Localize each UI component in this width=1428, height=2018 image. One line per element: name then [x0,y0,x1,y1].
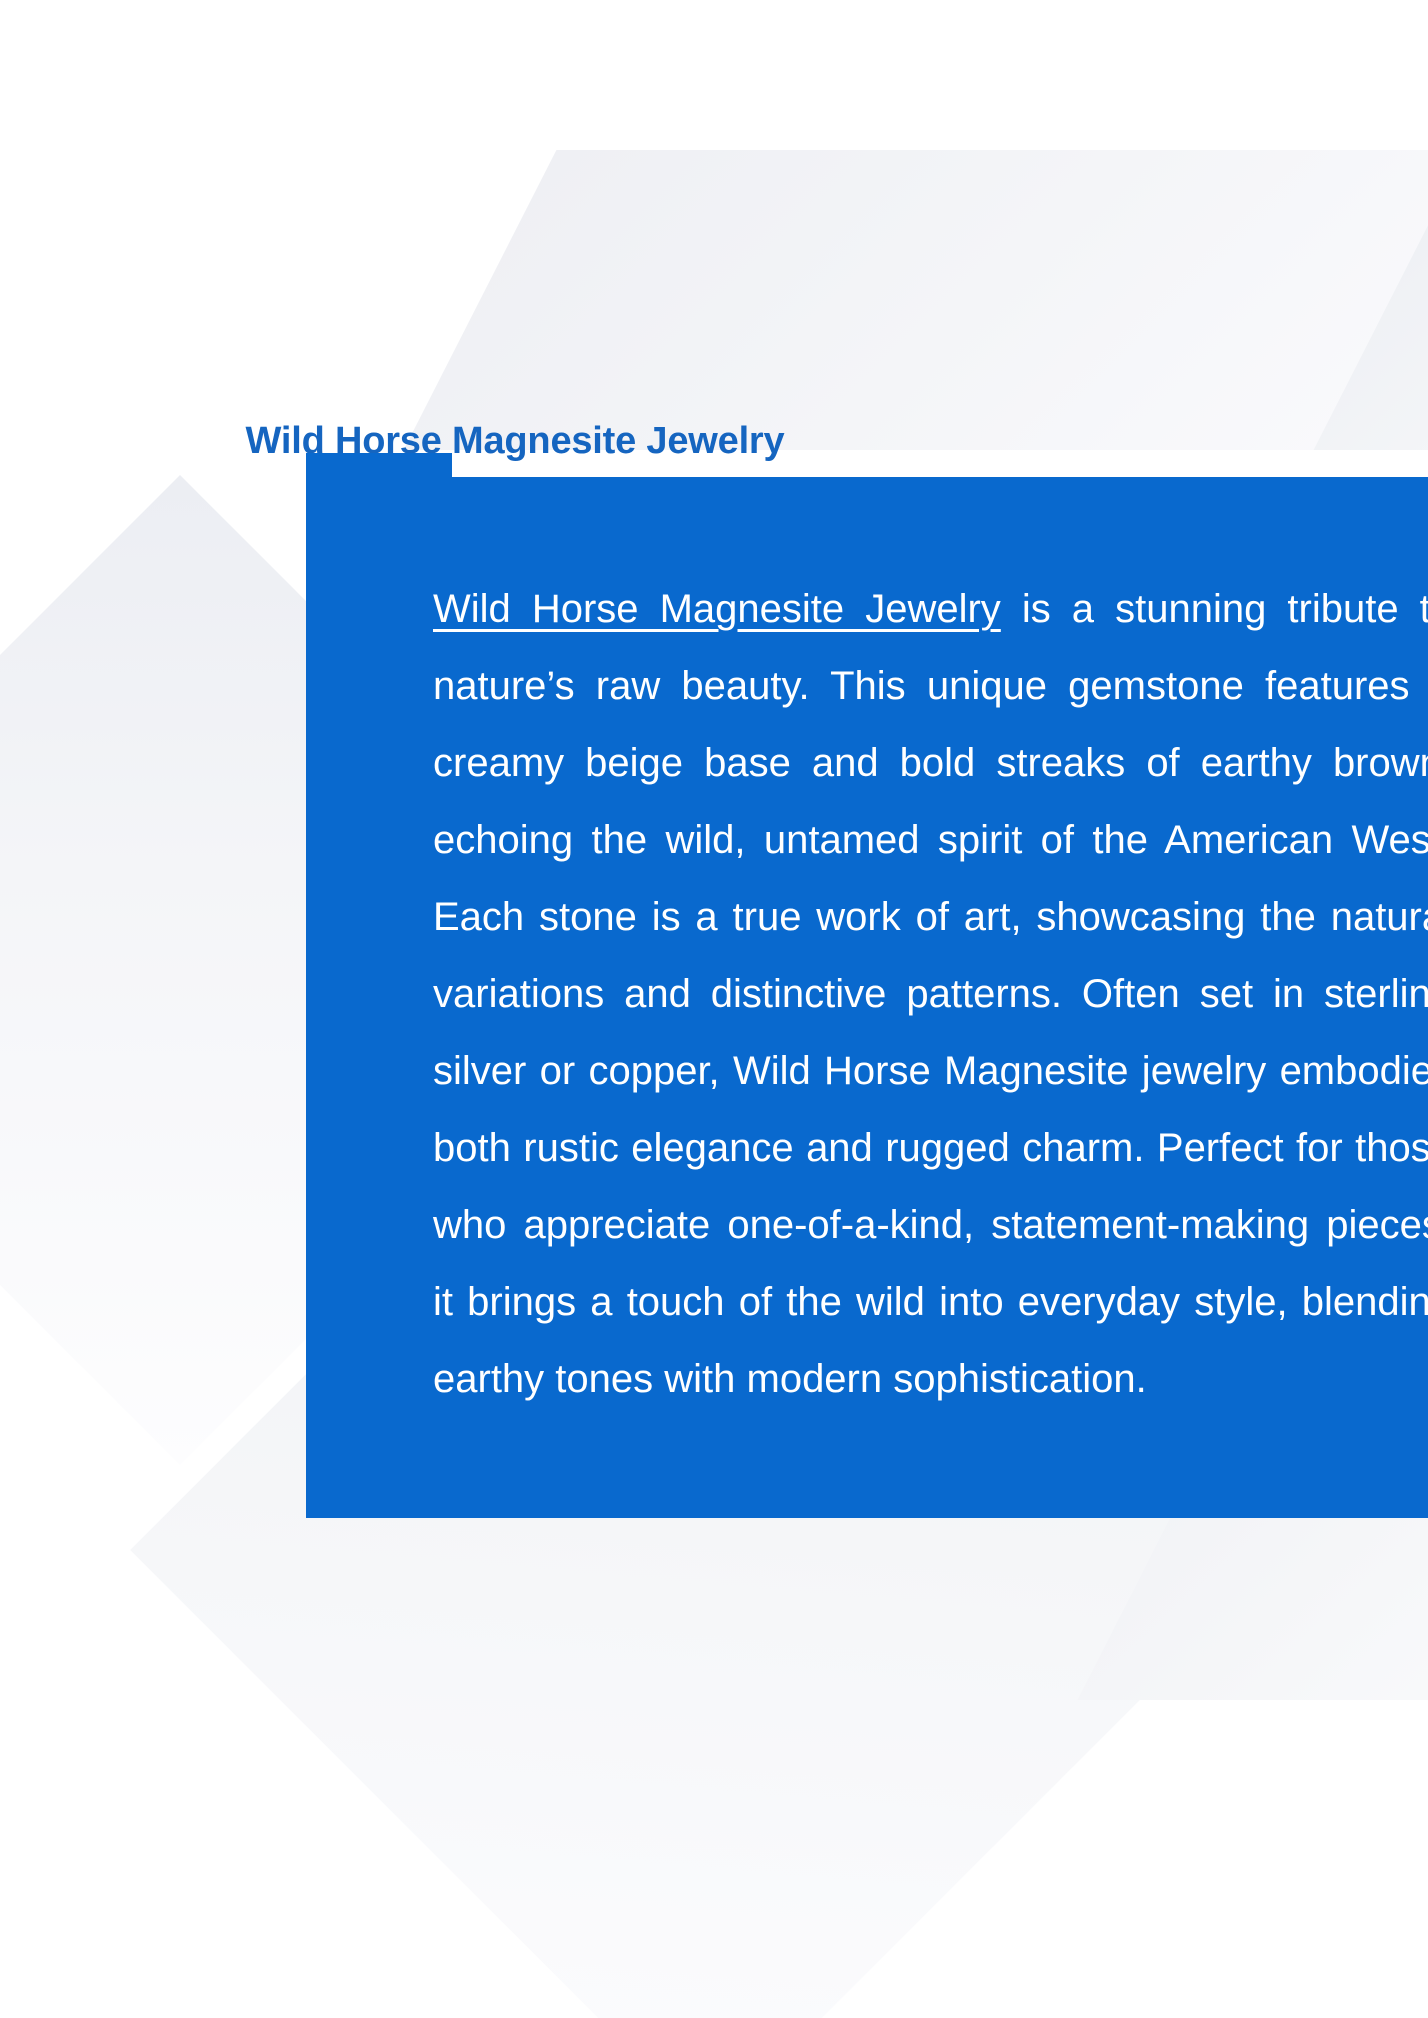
description-body-text: is a stunning tribute to nature’s raw be… [433,587,1428,1401]
wild-horse-magnesite-jewelry-link[interactable]: Wild Horse Magnesite Jewelry [433,587,1001,631]
page-title: Wild Horse Magnesite Jewelry [0,420,1428,463]
description-panel: Wild Horse Magnesite Jewelry is a stunni… [306,453,1428,1518]
description-paragraph: Wild Horse Magnesite Jewelry is a stunni… [306,453,1428,1518]
